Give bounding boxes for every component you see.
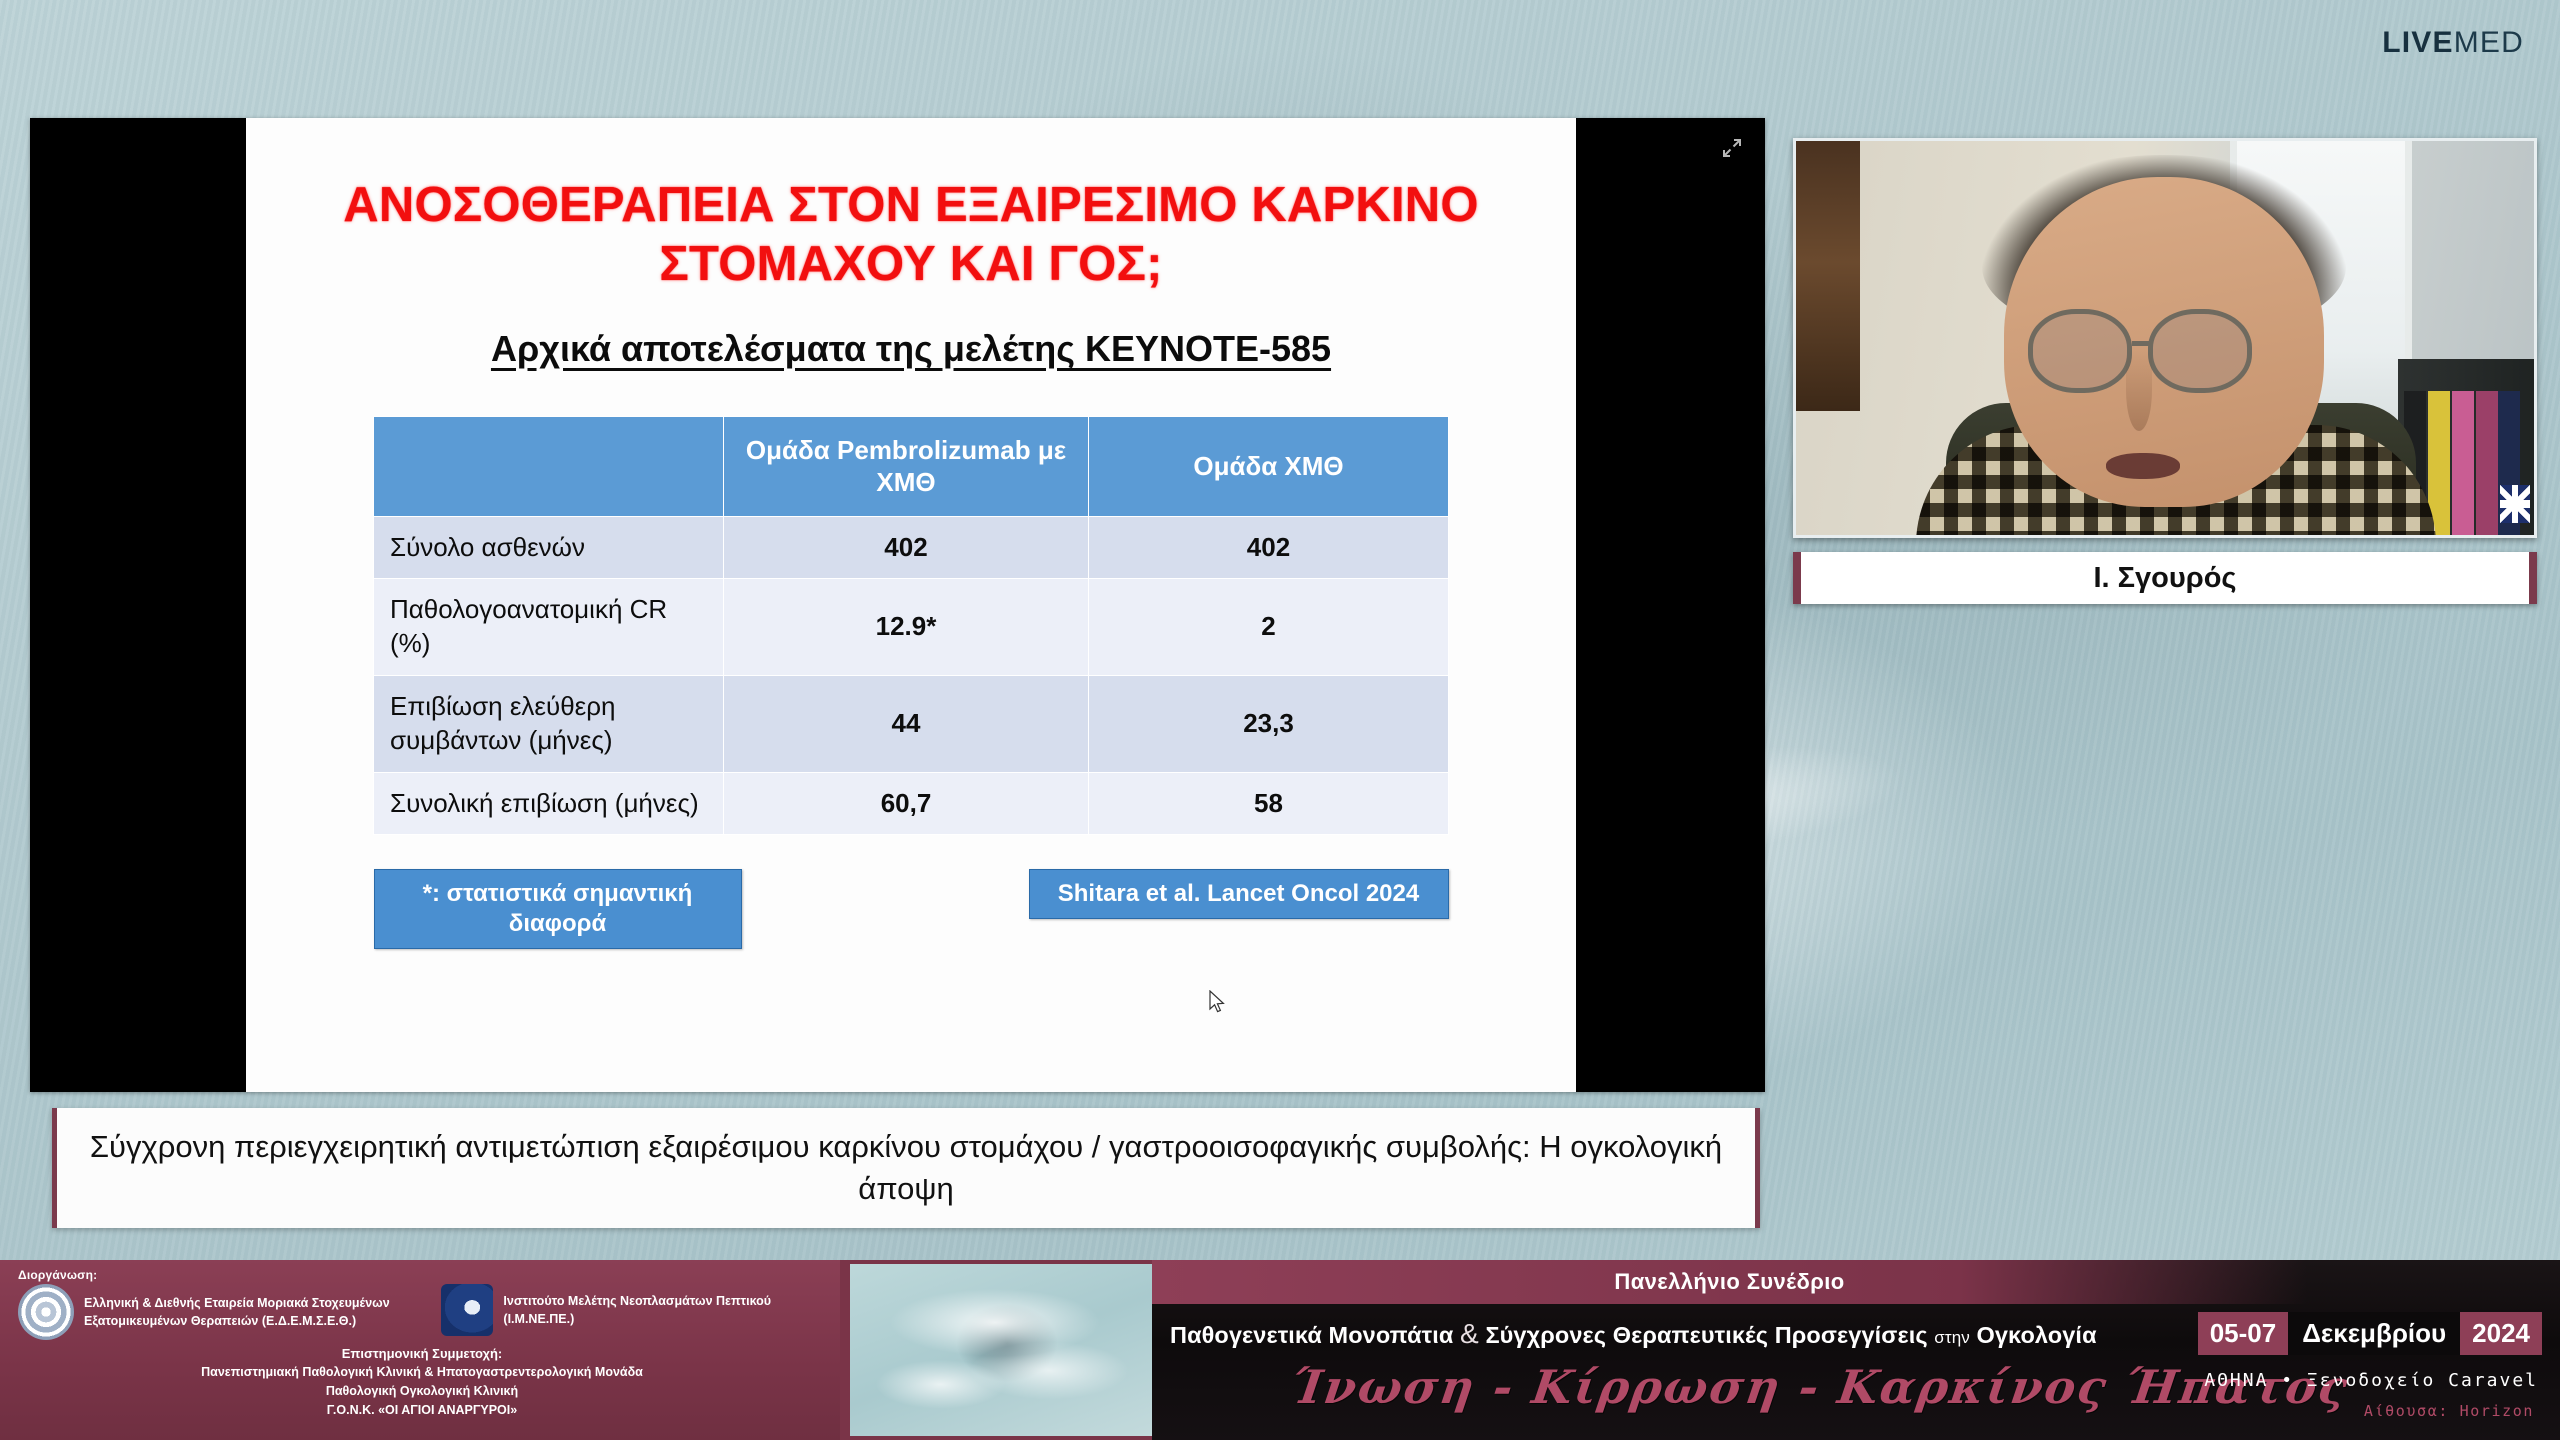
table-header-blank (374, 416, 724, 516)
reference-citation-chip: Shitara et al. Lancet Oncol 2024 (1029, 869, 1449, 919)
livemed-logo: LIVEMED (2382, 26, 2524, 60)
livemed-logo-light: MED (2454, 26, 2524, 59)
conference-hall: Αίθουσα: Horizon (2364, 1402, 2534, 1420)
conference-title: Παθογενετικά Μονοπάτια & Σύγχρονες Θεραπ… (1170, 1318, 2300, 1350)
conference-venue: ΑΘΗΝΑ • Ξενοδοχείο Caravel (2204, 1370, 2538, 1391)
conference-title-amp: & (1460, 1318, 1479, 1349)
footnote-row: *: στατιστικά σημαντική διαφορά Shitara … (374, 869, 1449, 949)
organizer-1-label: Ελληνική & Διεθνής Εταιρεία Μοριακά Στοχ… (84, 1294, 427, 1330)
video-eyeglasses-right (2148, 309, 2252, 393)
conference-kicker-band: Πανελλήνιο Συνέδριο (1152, 1260, 2307, 1304)
table-cell-value-a: 60,7 (724, 772, 1089, 835)
conference-dates: 05-07 Δεκεμβρίου 2024 (2198, 1312, 2542, 1355)
organizer-1: Ελληνική & Διεθνής Εταιρεία Μοριακά Στοχ… (18, 1284, 427, 1340)
slide-viewer[interactable]: ΑΝΟΣΟΘΕΡΑΠΕΙΑ ΣΤΟΝ ΕΞΑΙΡΕΣΙΜΟ ΚΑΡΚΙΝΟ ΣΤ… (30, 118, 1765, 1092)
prometheus-engraving-image (850, 1264, 1152, 1436)
conference-title-part3: Ογκολογία (1977, 1322, 2097, 1348)
participation-line: Πανεπιστημιακή Παθολογική Κλινική & Ηπατ… (18, 1363, 826, 1382)
session-caption-text: Σύγχρονη περιεγχειρητική αντιμετώπιση εξ… (87, 1126, 1725, 1210)
table-cell-label: Συνολική επιβίωση (μήνες) (374, 772, 724, 835)
conference-script-line: Ίνωση - Κίρρωση - Καρκίνος Ήπατος (1288, 1360, 2352, 1414)
significance-note-chip: *: στατιστικά σημαντική διαφορά (374, 869, 742, 949)
slide-subtitle: Αρχικά αποτελέσματα της μελέτης KEYNOTE-… (246, 328, 1576, 370)
table-cell-value-a: 12.9* (724, 579, 1089, 676)
sponsor-heading: Διοργάνωση: (18, 1268, 826, 1282)
engraving-thumbnail (840, 1260, 1152, 1440)
participation-line: Παθολογική Ογκολογική Κλινική (18, 1382, 826, 1401)
expand-arrows-icon[interactable] (1715, 136, 1749, 170)
livemed-logo-bold: LIVE (2382, 26, 2453, 59)
video-eyeglasses-bridge (2132, 341, 2152, 346)
bottom-strip: Διοργάνωση: Ελληνική & Διεθνής Εταιρεία … (0, 1260, 2560, 1440)
table-header-chemo: Ομάδα ΧΜΘ (1089, 416, 1449, 516)
video-binder (2476, 391, 2498, 538)
union-jack-flag-icon (2500, 485, 2530, 523)
speaker-name: Ι. Σγουρός (2093, 562, 2236, 595)
participation-heading: Επιστημονική Συμμετοχή: (18, 1346, 826, 1361)
speaker-name-bar: Ι. Σγουρός (1793, 552, 2537, 604)
conference-date-month: Δεκεμβρίου (2288, 1312, 2460, 1355)
video-binder (2452, 391, 2474, 538)
slide-content: ΑΝΟΣΟΘΕΡΑΠΕΙΑ ΣΤΟΝ ΕΞΑΙΡΕΣΙΜΟ ΚΑΡΚΙΝΟ ΣΤ… (246, 118, 1576, 1092)
conference-banner: Πανελλήνιο Συνέδριο Παθογενετικά Μονοπάτ… (1152, 1260, 2560, 1440)
table-cell-value-b: 58 (1089, 772, 1449, 835)
organizer-2-label: Ινστιτούτο Μελέτης Νεοπλασμάτων Πεπτικού… (503, 1292, 826, 1328)
table-row: Συνολική επιβίωση (μήνες) 60,7 58 (374, 772, 1449, 835)
table-header-row: Ομάδα Pembrolizumab με ΧΜΘ Ομάδα ΧΜΘ (374, 416, 1449, 516)
imnepe-logo-icon (441, 1284, 493, 1336)
organizer-logos: Ελληνική & Διεθνής Εταιρεία Μοριακά Στοχ… (18, 1284, 826, 1340)
table-cell-value-a: 44 (724, 675, 1089, 772)
conference-title-part1: Παθογενετικά Μονοπάτια (1170, 1322, 1453, 1348)
table-row: Σύνολο ασθενών 402 402 (374, 516, 1449, 579)
conference-title-part2: Σύγχρονες Θεραπευτικές Προσεγγίσεις (1485, 1322, 1927, 1348)
mouse-cursor (1209, 990, 1227, 1016)
table-cell-label: Επιβίωση ελεύθερη συμβάντων (μήνες) (374, 675, 724, 772)
table-cell-value-b: 402 (1089, 516, 1449, 579)
video-speaker-mouth (2106, 453, 2180, 479)
organizer-2: Ινστιτούτο Μελέτης Νεοπλασμάτων Πεπτικού… (441, 1284, 826, 1336)
conference-date-year: 2024 (2460, 1312, 2542, 1355)
video-door (1796, 141, 1860, 411)
results-table: Ομάδα Pembrolizumab με ΧΜΘ Ομάδα ΧΜΘ Σύν… (373, 416, 1449, 836)
sponsor-panel: Διοργάνωση: Ελληνική & Διεθνής Εταιρεία … (0, 1260, 840, 1440)
video-speaker-nose (2126, 349, 2152, 431)
table-cell-label: Παθολογοανατομική CR (%) (374, 579, 724, 676)
edemseth-logo-icon (18, 1284, 74, 1340)
conference-date-range: 05-07 (2198, 1312, 2289, 1355)
participation-lines: Πανεπιστημιακή Παθολογική Κλινική & Ηπατ… (18, 1363, 826, 1419)
slide-title: ΑΝΟΣΟΘΕΡΑΠΕΙΑ ΣΤΟΝ ΕΞΑΙΡΕΣΙΜΟ ΚΑΡΚΙΝΟ ΣΤ… (246, 176, 1576, 294)
conference-kicker: Πανελλήνιο Συνέδριο (1614, 1269, 1844, 1295)
session-caption-bar: Σύγχρονη περιεγχειρητική αντιμετώπιση εξ… (52, 1108, 1760, 1228)
table-row: Επιβίωση ελεύθερη συμβάντων (μήνες) 44 2… (374, 675, 1449, 772)
table-cell-value-a: 402 (724, 516, 1089, 579)
participation-line: Γ.Ο.Ν.Κ. «ΟΙ ΑΓΙΟΙ ΑΝΑΡΓΥΡΟΙ» (18, 1401, 826, 1420)
speaker-video-feed[interactable] (1793, 138, 2537, 538)
table-cell-value-b: 23,3 (1089, 675, 1449, 772)
conference-title-small: στην (1934, 1328, 1970, 1347)
table-cell-value-b: 2 (1089, 579, 1449, 676)
video-eyeglasses-left (2028, 309, 2132, 393)
table-row: Παθολογοανατομική CR (%) 12.9* 2 (374, 579, 1449, 676)
table-cell-label: Σύνολο ασθενών (374, 516, 724, 579)
table-header-pembro: Ομάδα Pembrolizumab με ΧΜΘ (724, 416, 1089, 516)
